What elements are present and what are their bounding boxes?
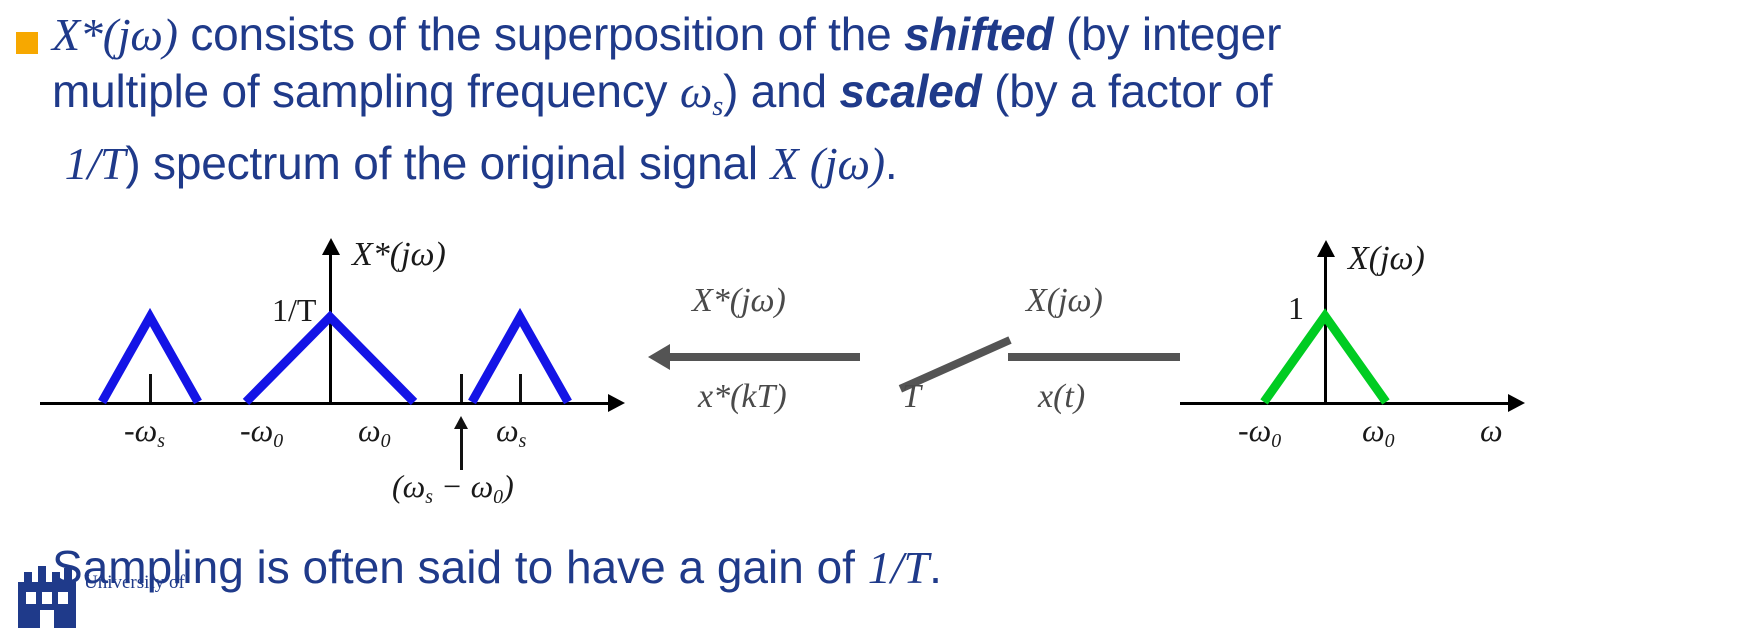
flow-arrow-left-icon — [648, 344, 670, 370]
bullet-line2-text-b: ) and — [723, 65, 839, 117]
bullet-line1-formula: X*(jω) — [52, 9, 178, 60]
xaxis-label-omega: ω — [1480, 414, 1503, 446]
tick-minus-omega-s — [149, 374, 152, 402]
xtick-label-minus-omega-s: -ωs — [124, 414, 165, 452]
tick-omega-s — [519, 374, 522, 402]
chart-original-spectrum: 1 X(jω) -ω0 ω0 ω — [1180, 240, 1740, 500]
label-X-j-omega: X(jω) — [1026, 284, 1103, 318]
bullet-line1-text-a: consists of the superposition of the — [178, 8, 904, 60]
bullet-square-icon — [16, 32, 38, 54]
spectrum-traces — [40, 232, 650, 532]
bullet-line1-emphasis: shifted — [904, 8, 1053, 60]
xtick-label-omega-0: ω0 — [358, 414, 391, 452]
slide-canvas: X*(jω) consists of the superposition of … — [0, 0, 1750, 644]
bullet-line2-omega: ω — [680, 66, 712, 117]
callout-arrow-stem — [460, 428, 463, 470]
peak-label-one: 1 — [1288, 292, 1304, 324]
figure-sampling-spectra: 1/T X*(jω) -ωs -ω0 ω0 ωs (ωs − ω0) X*(jω… — [0, 232, 1750, 532]
bullet-line3-period: . — [885, 137, 898, 189]
bullet-line2-emphasis: scaled — [840, 65, 982, 117]
peak-label-one-over-T: 1/T — [272, 294, 316, 326]
logo-wordmark: University of — [84, 572, 185, 593]
xtick-label-minus-omega-0: -ω0 — [240, 414, 283, 452]
university-logo-icon — [14, 556, 80, 630]
tick-omega-s-minus-omega-0 — [460, 374, 463, 402]
label-X-star-j-omega: X*(jω) — [692, 284, 786, 318]
bullet-line1-text-b: (by integer — [1053, 8, 1281, 60]
chart-title-sampled: X*(jω) — [352, 238, 446, 272]
closing-statement-formula: 1/T — [868, 542, 929, 593]
xtick-label-omega-0-right: ω0 — [1362, 414, 1395, 452]
label-sampling-period-T: T — [902, 380, 921, 414]
sampler-flow-diagram: X*(jω) x*(kT) T X(jω) x(t) — [640, 232, 1180, 532]
xtick-label-omega-s: ωs — [496, 414, 526, 452]
bullet-line3-fraction: 1/T — [65, 138, 126, 189]
flow-line-right — [1008, 353, 1180, 361]
flow-line-left — [668, 353, 860, 361]
label-x-of-t: x(t) — [1038, 380, 1085, 414]
bullet-line2-omega-subscript: s — [712, 91, 723, 122]
closing-statement: Sampling is often said to have a gain of… — [52, 540, 1652, 595]
chart-title-original: X(jω) — [1348, 242, 1425, 276]
label-x-star-kT: x*(kT) — [698, 380, 787, 414]
bullet-line3-text-a: ) spectrum of the original signal — [125, 137, 770, 189]
annotation-omega-s-minus-omega-0: (ωs − ω0) — [392, 470, 514, 508]
bullet-line2-text-c: (by a factor of — [982, 65, 1273, 117]
bullet-block: X*(jω) consists of the superposition of … — [8, 6, 1748, 192]
bullet-line3-formula: X (jω) — [771, 138, 885, 189]
bullet-paragraph: X*(jω) consists of the superposition of … — [8, 6, 1748, 192]
xtick-label-minus-omega-0-right: -ω0 — [1238, 414, 1281, 452]
chart-sampled-spectrum: 1/T X*(jω) -ωs -ω0 ω0 ωs (ωs − ω0) — [40, 232, 650, 532]
bullet-line2-text-a: multiple of sampling frequency — [52, 65, 680, 117]
closing-statement-period: . — [929, 541, 942, 593]
